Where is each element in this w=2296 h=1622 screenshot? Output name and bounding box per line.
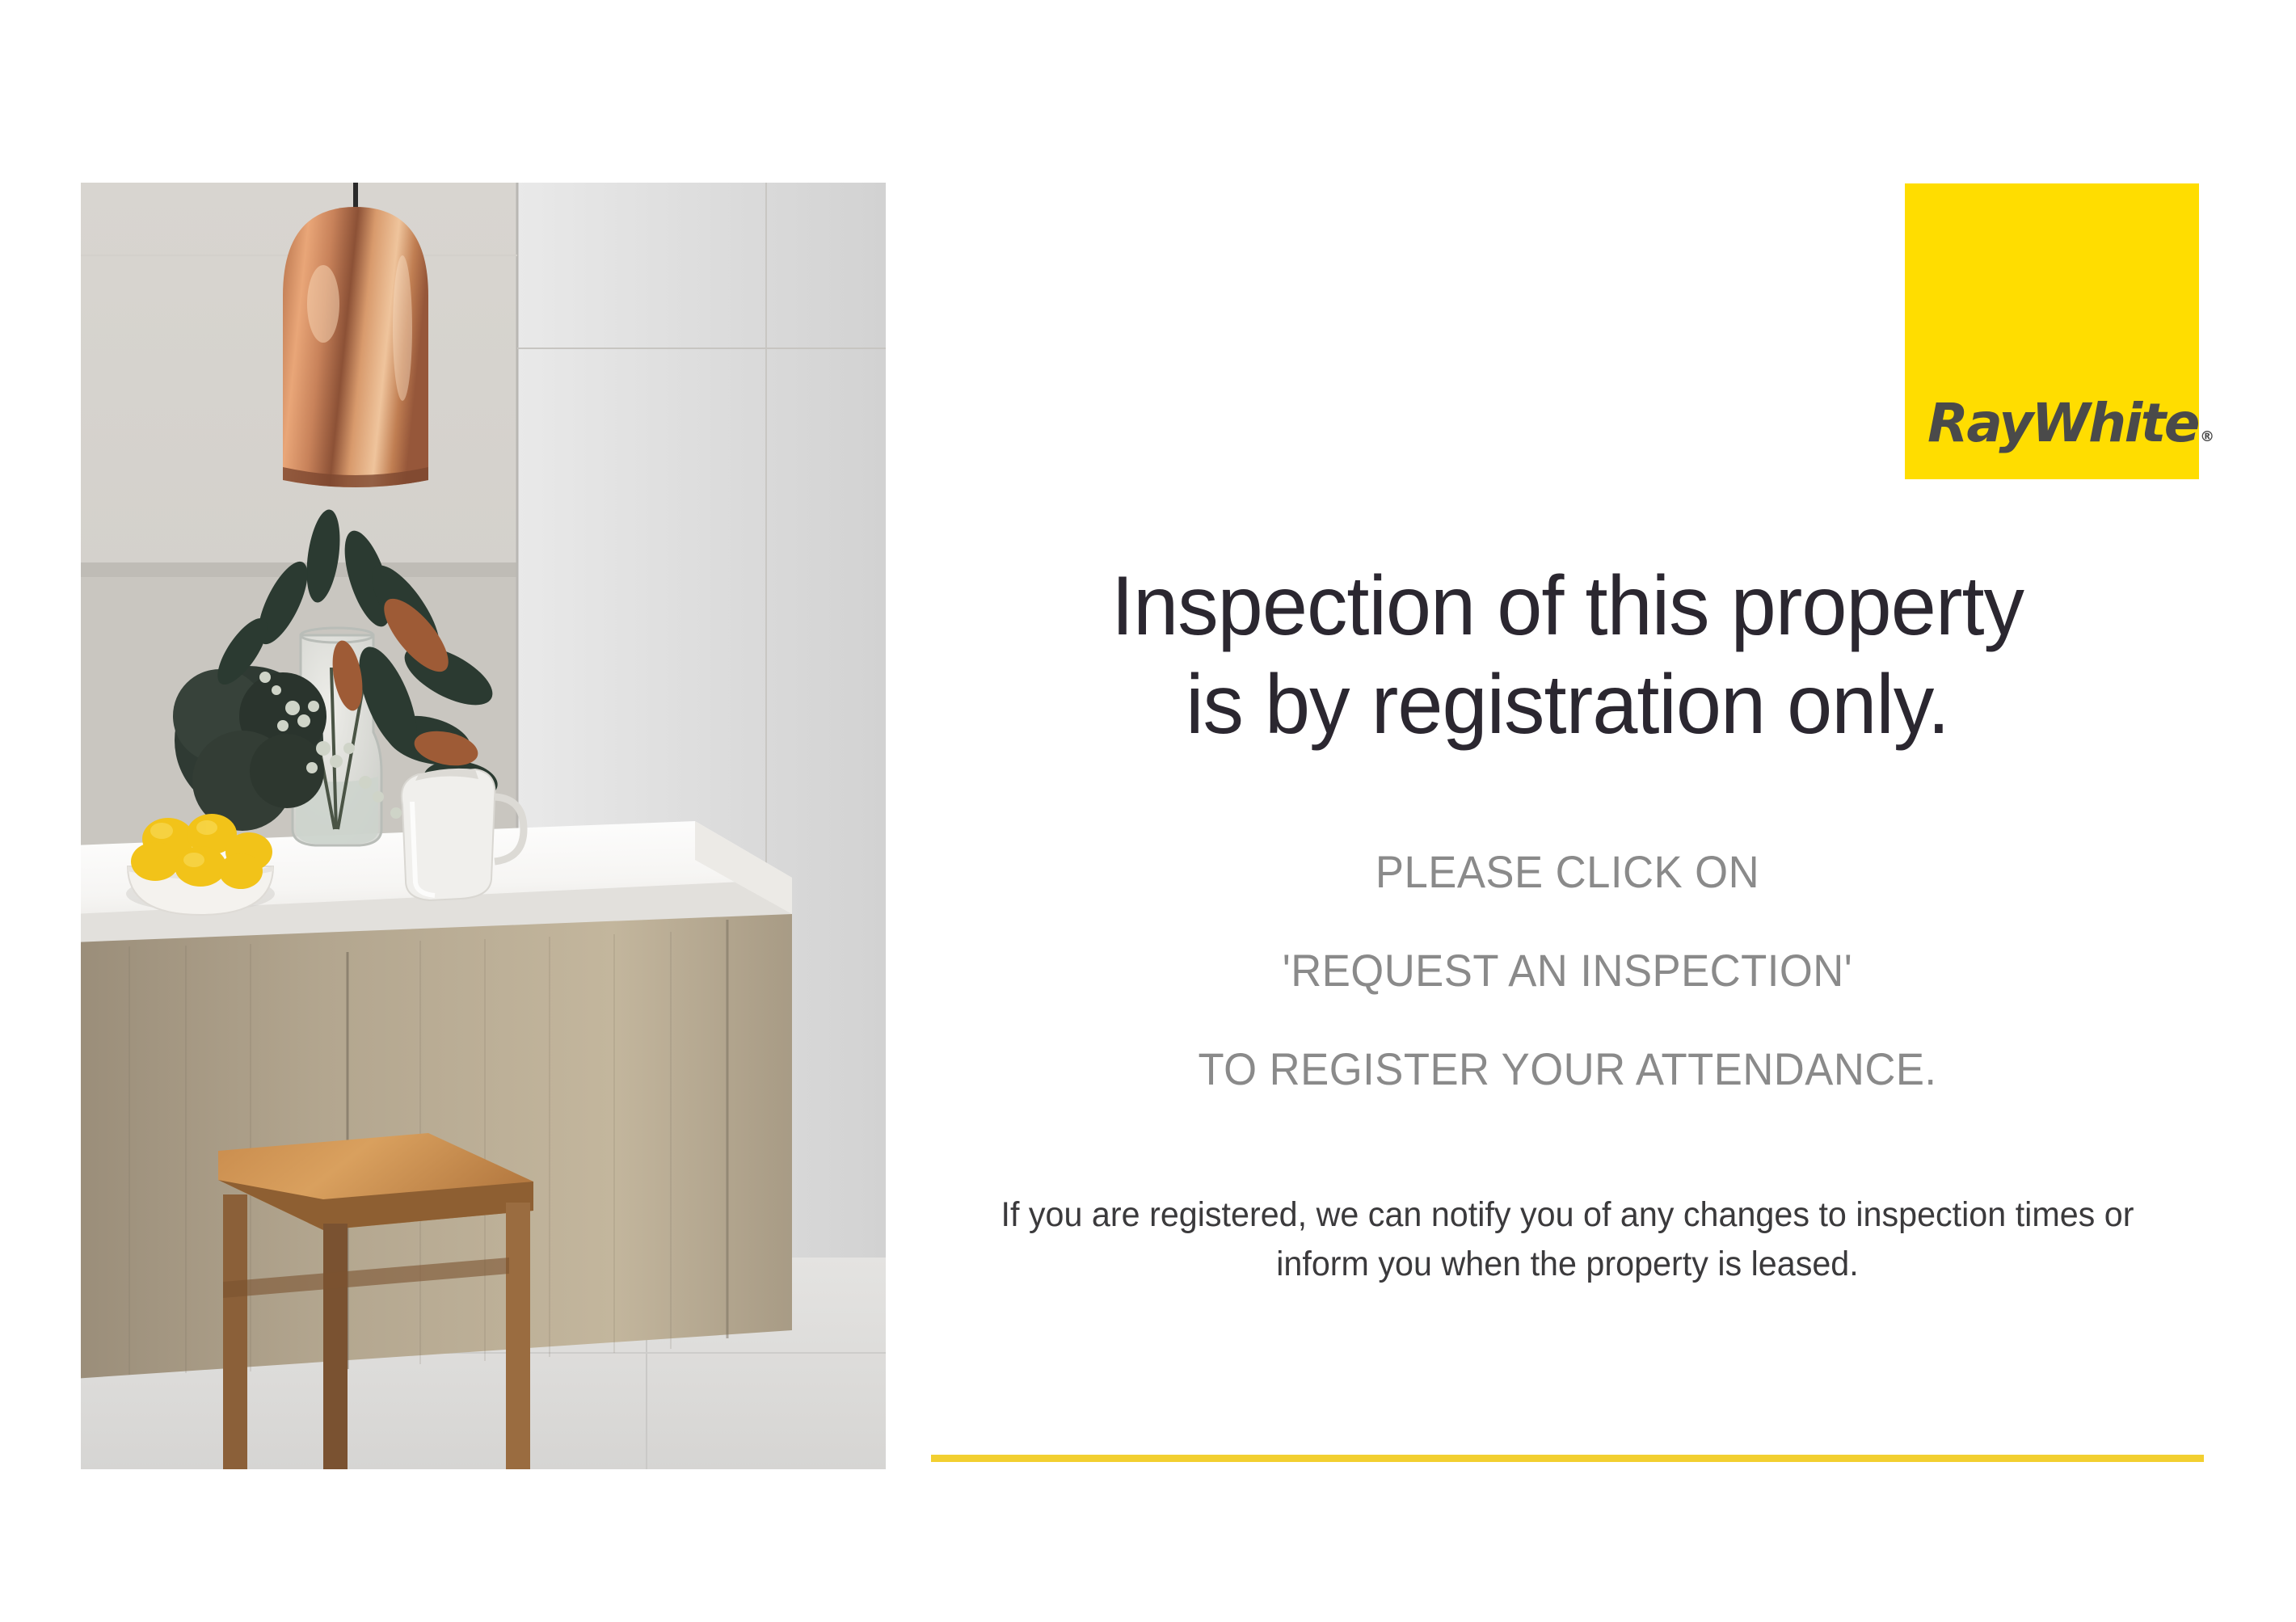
kitchen-photo-illustration [81, 183, 886, 1469]
property-photo [81, 183, 886, 1469]
ray-white-wordmark: RayWhite® [1927, 397, 2214, 450]
yellow-divider [931, 1455, 2204, 1462]
headline-line-1: Inspection of this property [950, 558, 2185, 656]
headline-line-2: is by registration only. [950, 656, 2185, 755]
registration-note: If you are registered, we can notify you… [957, 1190, 2179, 1289]
ray-white-logo: RayWhite® [1905, 183, 2199, 479]
registered-trademark-icon: ® [2200, 428, 2214, 445]
note-line-1: If you are registered, we can notify you… [957, 1190, 2179, 1240]
note-line-2: inform you when the property is leased. [957, 1240, 2179, 1289]
instruction-line-1: PLEASE CLICK ON [969, 849, 2166, 895]
instruction-line-2: 'REQUEST AN INSPECTION' [969, 948, 2166, 993]
instruction-block: PLEASE CLICK ON 'REQUEST AN INSPECTION' … [931, 849, 2204, 1092]
instruction-line-3: TO REGISTER YOUR ATTENDANCE. [969, 1047, 2166, 1092]
message-panel: Inspection of this property is by regist… [931, 558, 2204, 1289]
brand-name: RayWhite [1927, 392, 2198, 454]
headline: Inspection of this property is by regist… [950, 558, 2185, 754]
